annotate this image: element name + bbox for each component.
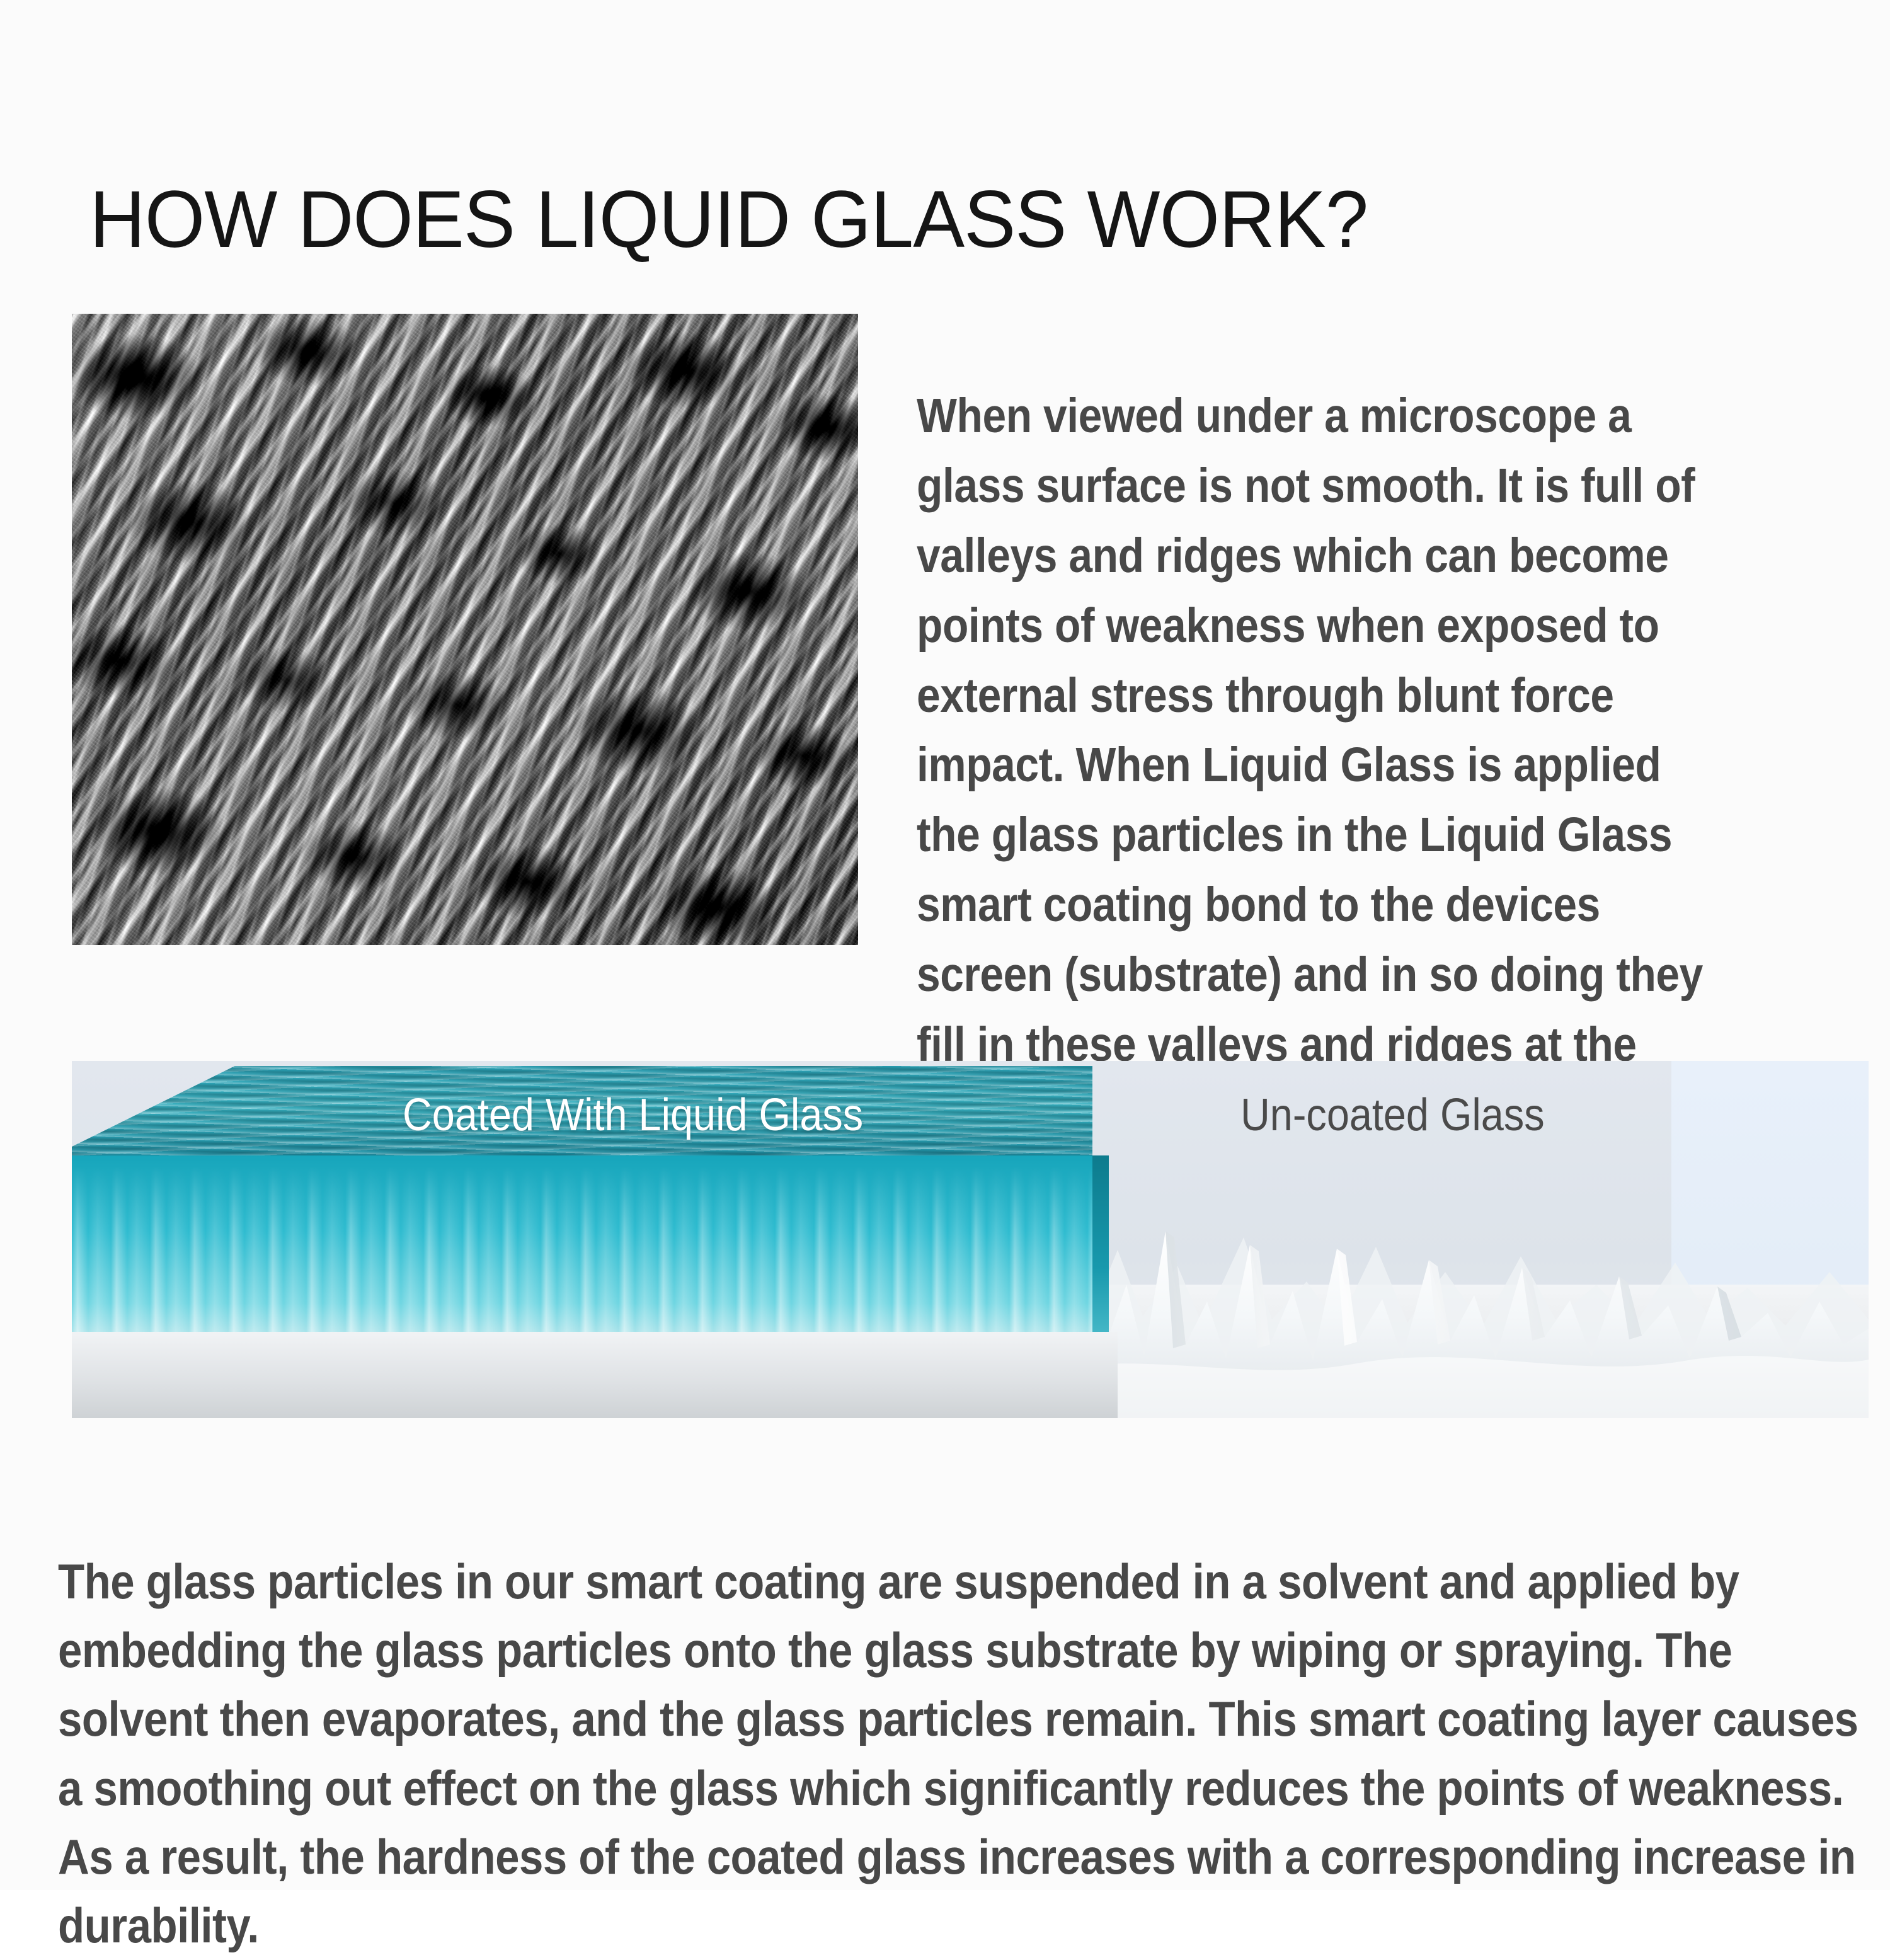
coated-slab-front-face — [72, 1155, 1092, 1344]
page-title: HOW DOES LIQUID GLASS WORK? — [89, 178, 1368, 262]
label-coated-with-liquid-glass: Coated With Liquid Glass — [403, 1089, 863, 1141]
infographic-page: HOW DOES LIQUID GLASS WORK? When viewed … — [0, 0, 1890, 1890]
detail-paragraph: The glass particles in our smart coating… — [58, 1547, 1859, 1960]
sem-texture — [72, 314, 858, 945]
glass-substrate-base — [72, 1332, 1118, 1418]
intro-paragraph: When viewed under a microscope a glass s… — [917, 381, 1732, 1150]
embedded-ridges — [72, 1166, 1092, 1344]
nano-cross-section-diagram: Coated With Liquid Glass Un-coated Glass — [72, 1061, 1869, 1418]
label-un-coated-glass: Un-coated Glass — [1240, 1089, 1545, 1141]
sem-micrograph-image — [72, 314, 858, 945]
coated-slab-side-face — [1092, 1155, 1109, 1344]
uncoated-glass-peaks — [1042, 1137, 1869, 1418]
